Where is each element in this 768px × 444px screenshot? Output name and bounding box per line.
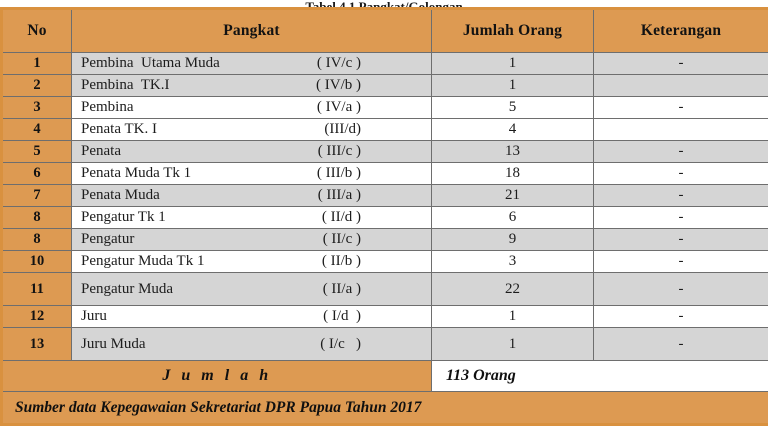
rank-grade-code: ( I/d ) <box>323 308 423 325</box>
remark-cell: - <box>594 207 768 229</box>
rank-grade-code: ( IV/b ) <box>316 77 423 94</box>
rank-cell: Pembina TK.I( IV/b ) <box>72 75 432 97</box>
rank-name: Pengatur Muda Tk 1 <box>81 253 204 270</box>
table-header: No Pangkat Jumlah Orang Keterangan <box>2 9 768 53</box>
rank-cell: Pembina( IV/a ) <box>72 97 432 119</box>
column-header-keterangan: Keterangan <box>594 9 768 53</box>
column-header-no: No <box>2 9 72 53</box>
person-count: 9 <box>432 229 594 251</box>
table-row: 10Pengatur Muda Tk 1( II/b )3- <box>2 251 768 273</box>
person-count: 21 <box>432 185 594 207</box>
row-number: 3 <box>2 97 72 119</box>
table-row: 12Juru( I/d )1- <box>2 306 768 328</box>
source-note: Sumber data Kepegawaian Sekretariat DPR … <box>2 392 768 425</box>
rank-name: Penata Muda <box>81 187 160 204</box>
person-count: 5 <box>432 97 594 119</box>
remark-cell: - <box>594 328 768 361</box>
rank-name: Pengatur Muda <box>81 281 173 298</box>
rank-name: Penata <box>81 143 121 160</box>
table-title-fragment: Tabel 4.1 Pangkat/Golongan <box>0 0 768 7</box>
total-row: J u m l a h 113 Orang <box>2 361 768 392</box>
rank-distribution-table: No Pangkat Jumlah Orang Keterangan 1Pemb… <box>0 7 768 426</box>
rank-name: Pengatur <box>81 231 134 248</box>
rank-grade-code: ( IV/a ) <box>317 99 423 116</box>
table-row: 7Penata Muda( III/a )21- <box>2 185 768 207</box>
rank-grade-code: ( II/c ) <box>323 231 423 248</box>
rank-cell: Penata TK. I(III/d) <box>72 119 432 141</box>
total-value: 113 Orang <box>432 361 768 392</box>
row-number: 2 <box>2 75 72 97</box>
table-row: 5Penata( III/c )13- <box>2 141 768 163</box>
source-row: Sumber data Kepegawaian Sekretariat DPR … <box>2 392 768 425</box>
rank-name: Pembina TK.I <box>81 77 169 94</box>
person-count: 1 <box>432 53 594 75</box>
row-number: 8 <box>2 229 72 251</box>
rank-grade-code: ( III/c ) <box>318 143 423 160</box>
table-row: 3Pembina( IV/a )5- <box>2 97 768 119</box>
row-number: 7 <box>2 185 72 207</box>
rank-name: Pengatur Tk 1 <box>81 209 166 226</box>
table-row: 8Pengatur Tk 1( II/d )6- <box>2 207 768 229</box>
table-row: 11Pengatur Muda( II/a )22- <box>2 273 768 306</box>
rank-cell: Juru Muda( I/c ) <box>72 328 432 361</box>
row-number: 4 <box>2 119 72 141</box>
rank-grade-code: ( II/b ) <box>322 253 423 270</box>
person-count: 1 <box>432 306 594 328</box>
rank-grade-code: ( IV/c ) <box>317 55 423 72</box>
person-count: 3 <box>432 251 594 273</box>
remark-cell: - <box>594 273 768 306</box>
remark-cell: - <box>594 251 768 273</box>
table-row: 2Pembina TK.I( IV/b )1 <box>2 75 768 97</box>
remark-cell: - <box>594 185 768 207</box>
person-count: 1 <box>432 328 594 361</box>
table-row: 6Penata Muda Tk 1( III/b )18- <box>2 163 768 185</box>
rank-name: Juru Muda <box>81 336 146 353</box>
person-count: 18 <box>432 163 594 185</box>
rank-cell: Pengatur Muda Tk 1( II/b ) <box>72 251 432 273</box>
rank-cell: Pembina Utama Muda( IV/c ) <box>72 53 432 75</box>
person-count: 22 <box>432 273 594 306</box>
rank-cell: Penata( III/c ) <box>72 141 432 163</box>
row-number: 11 <box>2 273 72 306</box>
table-row: 13Juru Muda( I/c )1- <box>2 328 768 361</box>
table-body: 1Pembina Utama Muda( IV/c )1-2Pembina TK… <box>2 53 768 361</box>
remark-cell: - <box>594 97 768 119</box>
person-count: 6 <box>432 207 594 229</box>
table-row: 4Penata TK. I(III/d)4 <box>2 119 768 141</box>
column-header-pangkat: Pangkat <box>72 9 432 53</box>
row-number: 1 <box>2 53 72 75</box>
table-row: 1Pembina Utama Muda( IV/c )1- <box>2 53 768 75</box>
rank-grade-code: ( I/c ) <box>320 336 423 353</box>
table-row: 8Pengatur( II/c )9- <box>2 229 768 251</box>
rank-cell: Penata Muda Tk 1( III/b ) <box>72 163 432 185</box>
remark-cell <box>594 119 768 141</box>
rank-grade-code: ( III/b ) <box>317 165 423 182</box>
row-number: 6 <box>2 163 72 185</box>
table-sheet: Tabel 4.1 Pangkat/Golongan No Pangkat Ju… <box>0 0 768 444</box>
remark-cell: - <box>594 306 768 328</box>
rank-name: Pembina <box>81 99 134 116</box>
rank-grade-code: ( II/a ) <box>323 281 423 298</box>
row-number: 5 <box>2 141 72 163</box>
rank-name: Penata TK. I <box>81 121 157 138</box>
rank-name: Pembina Utama Muda <box>81 55 220 72</box>
header-row: No Pangkat Jumlah Orang Keterangan <box>2 9 768 53</box>
remark-cell: - <box>594 141 768 163</box>
rank-cell: Pengatur( II/c ) <box>72 229 432 251</box>
remark-cell <box>594 75 768 97</box>
row-number: 12 <box>2 306 72 328</box>
remark-cell: - <box>594 229 768 251</box>
table-footer: J u m l a h 113 Orang Sumber data Kepega… <box>2 361 768 425</box>
remark-cell: - <box>594 163 768 185</box>
person-count: 13 <box>432 141 594 163</box>
rank-cell: Pengatur Tk 1( II/d ) <box>72 207 432 229</box>
rank-cell: Juru( I/d ) <box>72 306 432 328</box>
rank-grade-code: (III/d) <box>324 121 423 138</box>
person-count: 4 <box>432 119 594 141</box>
rank-name: Juru <box>81 308 107 325</box>
remark-cell: - <box>594 53 768 75</box>
rank-cell: Penata Muda( III/a ) <box>72 185 432 207</box>
rank-grade-code: ( II/d ) <box>322 209 423 226</box>
rank-cell: Pengatur Muda( II/a ) <box>72 273 432 306</box>
column-header-jumlah: Jumlah Orang <box>432 9 594 53</box>
row-number: 13 <box>2 328 72 361</box>
rank-name: Penata Muda Tk 1 <box>81 165 191 182</box>
total-label: J u m l a h <box>2 361 432 392</box>
person-count: 1 <box>432 75 594 97</box>
row-number: 8 <box>2 207 72 229</box>
row-number: 10 <box>2 251 72 273</box>
rank-grade-code: ( III/a ) <box>318 187 423 204</box>
